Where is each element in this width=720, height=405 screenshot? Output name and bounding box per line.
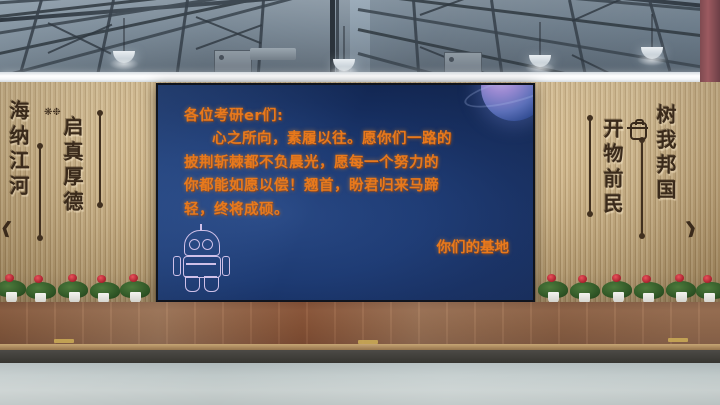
stage-riser-face <box>0 350 720 364</box>
ceiling-equipment-box <box>214 50 252 74</box>
side-column <box>700 0 720 84</box>
message-line-1: 心之所向，素履以往。愿你们一路的 <box>184 128 523 151</box>
led-display[interactable]: 各位考研er们: 心之所向，素履以往。愿你们一路的 披荆斩棘都不负晨光，愿每一个… <box>156 83 535 302</box>
screen-message: 各位考研er们: 心之所向，素履以往。愿你们一路的 披荆斩棘都不负晨光，愿每一个… <box>184 105 523 257</box>
wall-phrase-right-outer: 树我邦国 <box>655 104 675 204</box>
stage-marker-tape <box>668 338 688 342</box>
led-screen-surface: 各位考研er们: 心之所向，素履以往。愿你们一路的 披荆斩棘都不负晨光，愿每一个… <box>158 85 533 300</box>
message-signature: 你们的基地 <box>184 236 523 257</box>
message-line-2: 披荆斩棘都不负晨光，愿每一个努力的 <box>184 152 523 175</box>
wall-phrase-left-inner: 启真厚德 <box>62 116 82 216</box>
floor-reflection <box>0 363 720 405</box>
ceiling-duct <box>250 48 296 60</box>
wall-phrase-right-inner: 开物前民 <box>602 118 622 218</box>
wall-divider-rule <box>589 118 591 214</box>
message-salutation: 各位考研er们: <box>184 105 523 128</box>
message-line-4: 轻，终将成硕。 <box>184 199 523 222</box>
gear-icon: ❋❉ <box>44 108 61 118</box>
venue-photo: 海纳江河 启真厚德 ❋❉ ❰ 开物前民 树我邦国 ❱ 各位考研er们: 心之所向… <box>0 0 720 405</box>
wall-divider-rule <box>39 146 41 238</box>
message-line-3: 你都能如愿以偿！翘首，盼君归来马蹄 <box>184 175 523 198</box>
ceiling <box>0 0 720 80</box>
hall-floor <box>0 363 720 405</box>
robot-icon <box>630 122 647 140</box>
robot-mascot-icon <box>172 230 230 292</box>
wall-divider-rule <box>641 140 643 236</box>
wall-phrase-left-outer: 海纳江河 <box>8 100 28 200</box>
swoosh-icon: ❰ <box>0 217 15 238</box>
wall-divider-rule <box>99 113 101 205</box>
stage-marker-tape <box>54 339 74 343</box>
